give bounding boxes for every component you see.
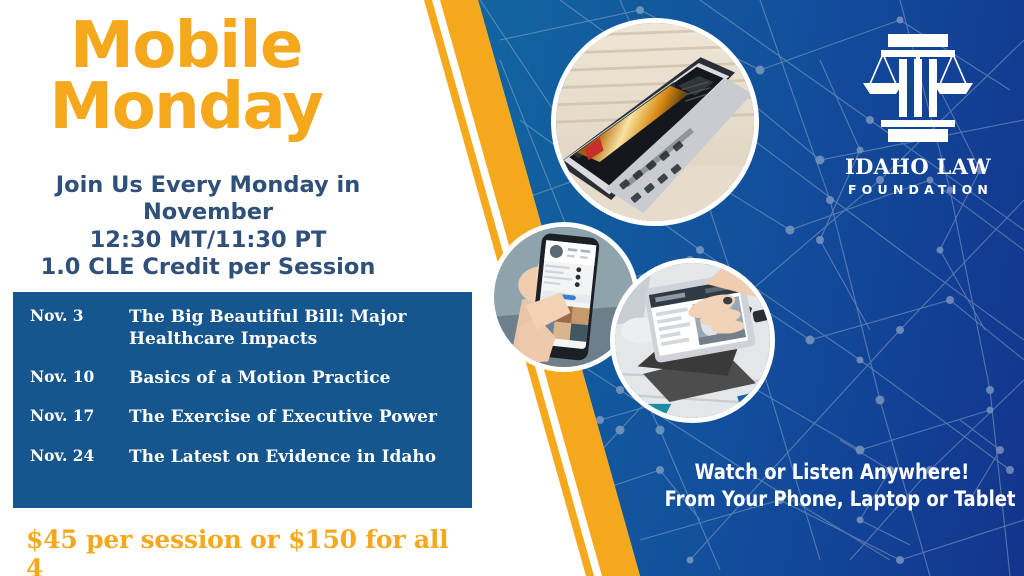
- left-content-column: Mobile Monday Join Us Every Monday in No…: [0, 0, 478, 576]
- session-title: Basics of a Motion Practice: [129, 367, 472, 389]
- table-row: Nov. 3 The Big Beautiful Bill: Major Hea…: [13, 292, 472, 351]
- title-line-2: Monday: [0, 77, 372, 138]
- tagline: Watch or Listen Anywhere! From Your Phon…: [665, 459, 1000, 513]
- logo-name: IDAHO LAW: [832, 154, 1004, 179]
- pricing-text: $45 per session or $150 for all 4: [26, 525, 466, 576]
- session-date: Nov. 17: [13, 406, 129, 426]
- table-row: Nov. 17 The Exercise of Executive Power: [13, 389, 472, 428]
- promotional-flyer: Mobile Monday Join Us Every Monday in No…: [0, 0, 1024, 576]
- session-schedule-table: Nov. 3 The Big Beautiful Bill: Major Hea…: [13, 292, 472, 508]
- table-row: Nov. 24 The Latest on Evidence in Idaho: [13, 429, 472, 468]
- event-detail-line-2: November: [8, 199, 408, 226]
- session-title: The Exercise of Executive Power: [129, 406, 472, 428]
- event-detail-line-1: Join Us Every Monday in: [8, 172, 408, 199]
- tablet-in-stand-circle: [610, 258, 775, 423]
- session-title: The Big Beautiful Bill: Major Healthcare…: [129, 306, 472, 351]
- laptop-photo-editing-circle: [551, 18, 759, 226]
- tagline-line-1: Watch or Listen Anywhere!: [665, 459, 1000, 486]
- idaho-law-foundation-logo: IDAHO LAW FOUNDATION: [832, 26, 1004, 197]
- event-detail-line-3: 12:30 MT/11:30 PT: [8, 227, 408, 254]
- tagline-line-2: From Your Phone, Laptop or Tablet: [665, 486, 1000, 513]
- page-title: Mobile Monday: [0, 16, 372, 138]
- session-title: The Latest on Evidence in Idaho: [129, 446, 472, 468]
- logo-subname: FOUNDATION: [832, 182, 1004, 197]
- session-date: Nov. 3: [13, 306, 129, 326]
- event-details: Join Us Every Monday in November 12:30 M…: [8, 172, 408, 282]
- table-row: Nov. 10 Basics of a Motion Practice: [13, 351, 472, 389]
- scales-of-justice-column-icon: [843, 26, 993, 148]
- session-date: Nov. 24: [13, 446, 129, 466]
- session-date: Nov. 10: [13, 367, 129, 387]
- event-detail-line-4: 1.0 CLE Credit per Session: [8, 254, 408, 281]
